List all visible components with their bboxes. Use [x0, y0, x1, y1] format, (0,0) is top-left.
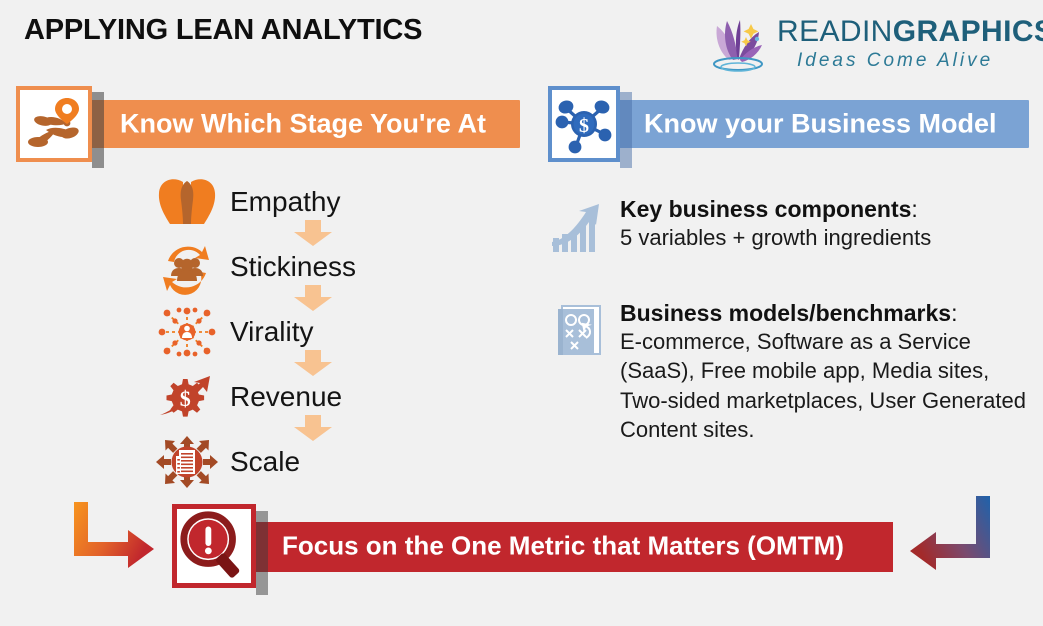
stage-label-empathy: Empathy — [230, 186, 341, 218]
playbook-strategy-notebook-icon — [550, 302, 608, 360]
page-title: APPLYING LEAN ANALYTICS — [24, 14, 422, 47]
network-hub-dollar-icon: $ — [552, 90, 616, 158]
model-header-shadow — [620, 92, 632, 168]
stage-label-virality: Virality — [230, 316, 314, 348]
section-header-model: $ Know your Business Model — [548, 86, 1029, 162]
omtm-icon-shadow — [256, 511, 268, 595]
stage-ladder: Empathy Stickiness — [150, 176, 410, 486]
svg-text:$: $ — [579, 115, 589, 137]
logo-wordmark: READINGRAPHICS — [777, 15, 1043, 49]
info-body-key-components: Key business components: 5 variables + g… — [620, 196, 1026, 252]
winding-path-location-pin-icon — [20, 90, 88, 158]
stage-label-scale: Scale — [230, 446, 300, 478]
stage-item-revenue: $ Revenue — [150, 371, 410, 423]
stage-item-virality: Virality — [150, 306, 410, 358]
omtm-label: Focus on the One Metric that Matters (OM… — [282, 531, 844, 562]
open-book-sparkle-icon — [707, 12, 769, 74]
model-header-label: Know your Business Model — [644, 109, 997, 140]
elbow-arrow-left-icon — [896, 492, 996, 580]
stage-item-scale: Scale — [150, 436, 410, 488]
stage-header-shadow — [92, 92, 104, 168]
section-header-stage: Know Which Stage You're At — [16, 86, 520, 162]
info-heading-business-models: Business models/benchmarks: — [620, 300, 1026, 327]
retention-cycle-people-icon — [156, 241, 218, 293]
stage-item-stickiness: Stickiness — [150, 241, 410, 293]
info-text-key-components: 5 variables + growth ingredients — [620, 223, 1026, 252]
network-spread-person-icon — [156, 306, 218, 358]
logo-word-reading: READIN — [777, 15, 893, 48]
growth-bar-chart-arrow-icon — [550, 198, 608, 256]
info-text-business-models: E-commerce, Software as a Service (SaaS)… — [620, 327, 1026, 444]
svg-text:$: $ — [180, 386, 191, 411]
readingraphics-logo: READINGRAPHICS Ideas Come Alive — [699, 8, 1029, 78]
infographic-canvas: APPLYING LEAN ANALYTICS READINGRAPHICS I… — [0, 0, 1043, 626]
logo-tagline: Ideas Come Alive — [797, 50, 993, 72]
two-heads-empathy-icon — [156, 176, 218, 228]
stage-header-iconbox — [16, 86, 92, 162]
info-heading-key-components: Key business components: — [620, 196, 1026, 223]
info-body-business-models: Business models/benchmarks: E-commerce, … — [620, 300, 1026, 444]
gear-dollar-growth-arrow-icon: $ — [156, 371, 218, 423]
stage-label-stickiness: Stickiness — [230, 251, 356, 283]
elbow-arrow-right-icon — [68, 496, 168, 576]
stage-item-empathy: Empathy — [150, 176, 410, 228]
magnifier-exclamation-icon — [177, 509, 251, 583]
omtm-iconbox — [172, 504, 256, 588]
logo-word-graphics: GRAPHICS — [893, 15, 1043, 48]
omtm-banner: Focus on the One Metric that Matters (OM… — [160, 504, 893, 588]
building-expand-arrows-icon — [156, 436, 218, 488]
stage-label-revenue: Revenue — [230, 381, 342, 413]
model-header-iconbox: $ — [548, 86, 620, 162]
stage-header-label: Know Which Stage You're At — [120, 109, 486, 140]
